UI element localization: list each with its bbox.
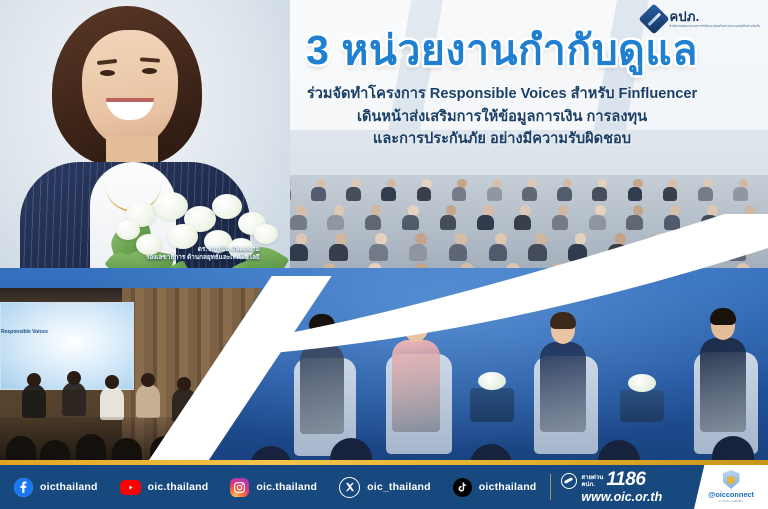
x-handle: oic_thailand [367, 481, 431, 493]
subtitle-line-2: เดินหน้าส่งเสริมการให้ข้อมูลการเงิน การล… [246, 106, 758, 128]
oicconnect-badge[interactable]: @oicconnect ประกันภัย ง่ายนิดเดียว [694, 465, 768, 509]
hotline-phone-icon [561, 473, 577, 489]
headline-block: 3 หน่วยงานกำกับดูแล ร่วมจัดทำโครงการ Res… [246, 28, 758, 150]
headline-subtitle: ร่วมจัดทำโครงการ Responsible Voices สำหร… [246, 83, 758, 150]
caption-name: ดร.ชญานิน เกิดผลงาม [146, 246, 260, 254]
oicconnect-sub: ประกันภัย ง่ายนิดเดียว [719, 500, 744, 504]
backdrop-banner-text: Responsible Voices [1, 329, 123, 335]
oic-logo: คปภ. สำนักงานคณะกรรมการกำกับและส่งเสริมก… [643, 8, 760, 30]
facebook-handle: oicthailand [40, 481, 98, 493]
subtitle-line-1: ร่วมจัดทำโครงการ Responsible Voices สำหร… [246, 83, 758, 105]
youtube-icon [120, 480, 141, 495]
footer-divider [550, 474, 551, 500]
x-twitter-icon [339, 477, 360, 498]
footer-bar: oicthailand oic.thailand oic.thailand oi… [0, 465, 768, 509]
portrait-caption: ดร.ชญานิน เกิดผลงาม รองเลขาธิการ ด้านกลย… [146, 246, 260, 262]
oic-logo-fullname: สำนักงานคณะกรรมการกำกับและส่งเสริมการประ… [669, 25, 760, 28]
website-url: www.oic.or.th [581, 491, 662, 504]
youtube-handle: oic.thailand [148, 481, 209, 493]
social-item-youtube[interactable]: oic.thailand [120, 480, 209, 495]
page-title: 3 หน่วยงานกำกับดูแล [246, 28, 758, 72]
oic-diamond-icon [639, 3, 670, 34]
instagram-icon [230, 478, 249, 497]
caption-title: รองเลขาธิการ ด้านกลยุทธ์และเทคโนโลยี [146, 254, 260, 262]
tiktok-icon [453, 478, 472, 497]
poster-root: 3 หน่วยงานกำกับดูแล ร่วมจัดทำโครงการ Res… [0, 0, 768, 509]
tiktok-handle: oicthailand [479, 481, 537, 493]
oic-logo-abbr: คปภ. [669, 10, 760, 23]
hero-section: 3 หน่วยงานกำกับดูแล ร่วมจัดทำโครงการ Res… [0, 0, 768, 300]
hotline-block[interactable]: สายด่วน คปภ. 1186 www.oic.or.th [561, 470, 662, 504]
social-item-facebook[interactable]: oicthailand [14, 478, 98, 497]
stage-watermark: Voices [643, 268, 706, 290]
hotline-label-2: คปภ. [581, 482, 603, 489]
subtitle-line-3: และการประกันภัย อย่างมีความรับผิดชอบ [246, 128, 758, 150]
instagram-handle: oic.thailand [256, 481, 317, 493]
social-item-tiktok[interactable]: oicthailand [453, 478, 537, 497]
social-item-instagram[interactable]: oic.thailand [230, 478, 317, 497]
shield-icon [723, 470, 740, 489]
social-item-x[interactable]: oic_thailand [339, 477, 431, 498]
hotline-number: 1186 [606, 470, 645, 489]
facebook-icon [14, 478, 33, 497]
oicconnect-name: @oicconnect [708, 490, 754, 499]
